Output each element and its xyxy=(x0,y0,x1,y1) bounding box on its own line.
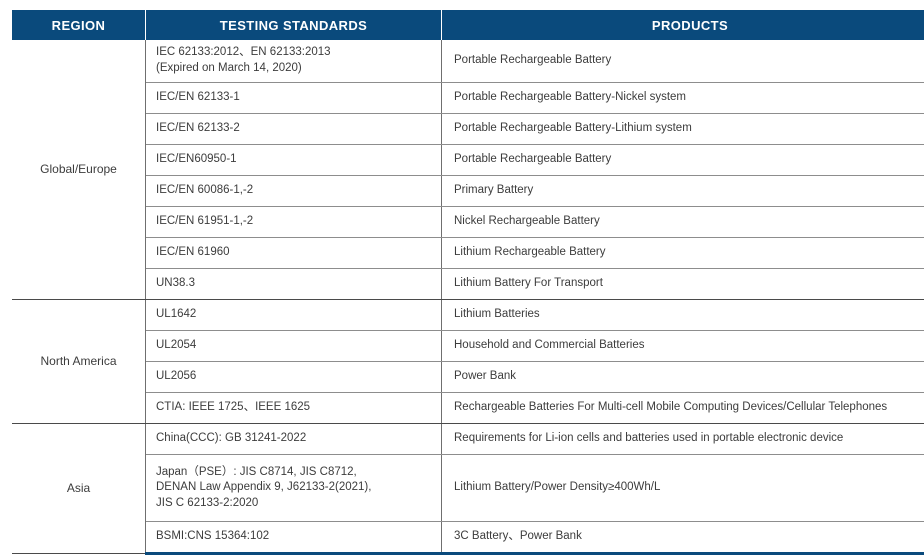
product-cell: Nickel Rechargeable Battery xyxy=(442,207,924,238)
standard-cell: China(CCC): GB 31241-2022 xyxy=(146,424,442,455)
product-cell: Lithium Battery/Power Density≥400Wh/L xyxy=(442,455,924,522)
standard-cell: UL2056 xyxy=(146,362,442,393)
product-cell: Household and Commercial Batteries xyxy=(442,331,924,362)
table-row: North America UL1642 Lithium Batteries xyxy=(12,300,924,331)
table-row: IEC/EN 60086-1,-2 Primary Battery xyxy=(12,176,924,207)
table-row: IEC/EN 62133-1 Portable Rechargeable Bat… xyxy=(12,83,924,114)
standard-cell: IEC/EN 61960 xyxy=(146,238,442,269)
standard-cell: CTIA: IEEE 1725、IEEE 1625 xyxy=(146,393,442,424)
region-cell-north-america: North America xyxy=(12,300,146,424)
table-row: Asia China(CCC): GB 31241-2022 Requireme… xyxy=(12,424,924,455)
product-cell: Primary Battery xyxy=(442,176,924,207)
table-row: UN38.3 Lithium Battery For Transport xyxy=(12,269,924,300)
region-cell-global-europe: Global/Europe xyxy=(12,40,146,300)
standard-cell: IEC 62133:2012、EN 62133:2013 (Expired on… xyxy=(146,40,442,83)
column-header-product: PRODUCTS xyxy=(442,10,924,40)
header-row: REGION TESTING STANDARDS PRODUCTS xyxy=(12,10,924,40)
table-row: BSMI:CNS 15364:102 3C Battery、Power Bank xyxy=(12,522,924,554)
standard-cell: UL1642 xyxy=(146,300,442,331)
table-row: IEC/EN 62133-2 Portable Rechargeable Bat… xyxy=(12,114,924,145)
document-sheet: REGION TESTING STANDARDS PRODUCTS Global… xyxy=(0,0,924,438)
standard-cell: BSMI:CNS 15364:102 xyxy=(146,522,442,554)
product-cell: Lithium Battery For Transport xyxy=(442,269,924,300)
table-row: UL2054 Household and Commercial Batterie… xyxy=(12,331,924,362)
product-cell: Rechargeable Batteries For Multi-cell Mo… xyxy=(442,393,924,424)
column-header-region: REGION xyxy=(12,10,146,40)
standard-cell: IEC/EN 60086-1,-2 xyxy=(146,176,442,207)
product-cell: Power Bank xyxy=(442,362,924,393)
table-row: UL2056 Power Bank xyxy=(12,362,924,393)
table-row: IEC/EN 61951-1,-2 Nickel Rechargeable Ba… xyxy=(12,207,924,238)
table-row: Japan（PSE）: JIS C8714, JIS C8712, DENAN … xyxy=(12,455,924,522)
standard-cell: IEC/EN 61951-1,-2 xyxy=(146,207,442,238)
battery-standards-table: REGION TESTING STANDARDS PRODUCTS Global… xyxy=(12,10,924,555)
product-cell: Lithium Rechargeable Battery xyxy=(442,238,924,269)
table-row: CTIA: IEEE 1725、IEEE 1625 Rechargeable B… xyxy=(12,393,924,424)
standard-cell: IEC/EN60950-1 xyxy=(146,145,442,176)
standard-cell: IEC/EN 62133-2 xyxy=(146,114,442,145)
product-cell: Requirements for Li-ion cells and batter… xyxy=(442,424,924,455)
region-cell-asia: Asia xyxy=(12,424,146,554)
product-cell: Lithium Batteries xyxy=(442,300,924,331)
table-body: Global/Europe IEC 62133:2012、EN 62133:20… xyxy=(12,40,924,554)
table-row: IEC/EN 61960 Lithium Rechargeable Batter… xyxy=(12,238,924,269)
standard-cell: UL2054 xyxy=(146,331,442,362)
standard-cell: UN38.3 xyxy=(146,269,442,300)
table-header: REGION TESTING STANDARDS PRODUCTS xyxy=(12,10,924,40)
product-cell: Portable Rechargeable Battery-Lithium sy… xyxy=(442,114,924,145)
table-row: Global/Europe IEC 62133:2012、EN 62133:20… xyxy=(12,40,924,83)
product-cell: 3C Battery、Power Bank xyxy=(442,522,924,554)
product-cell: Portable Rechargeable Battery-Nickel sys… xyxy=(442,83,924,114)
standard-cell: IEC/EN 62133-1 xyxy=(146,83,442,114)
column-header-standard: TESTING STANDARDS xyxy=(146,10,442,40)
table-row: IEC/EN60950-1 Portable Rechargeable Batt… xyxy=(12,145,924,176)
product-cell: Portable Rechargeable Battery xyxy=(442,145,924,176)
standard-cell: Japan（PSE）: JIS C8714, JIS C8712, DENAN … xyxy=(146,455,442,522)
product-cell: Portable Rechargeable Battery xyxy=(442,40,924,83)
